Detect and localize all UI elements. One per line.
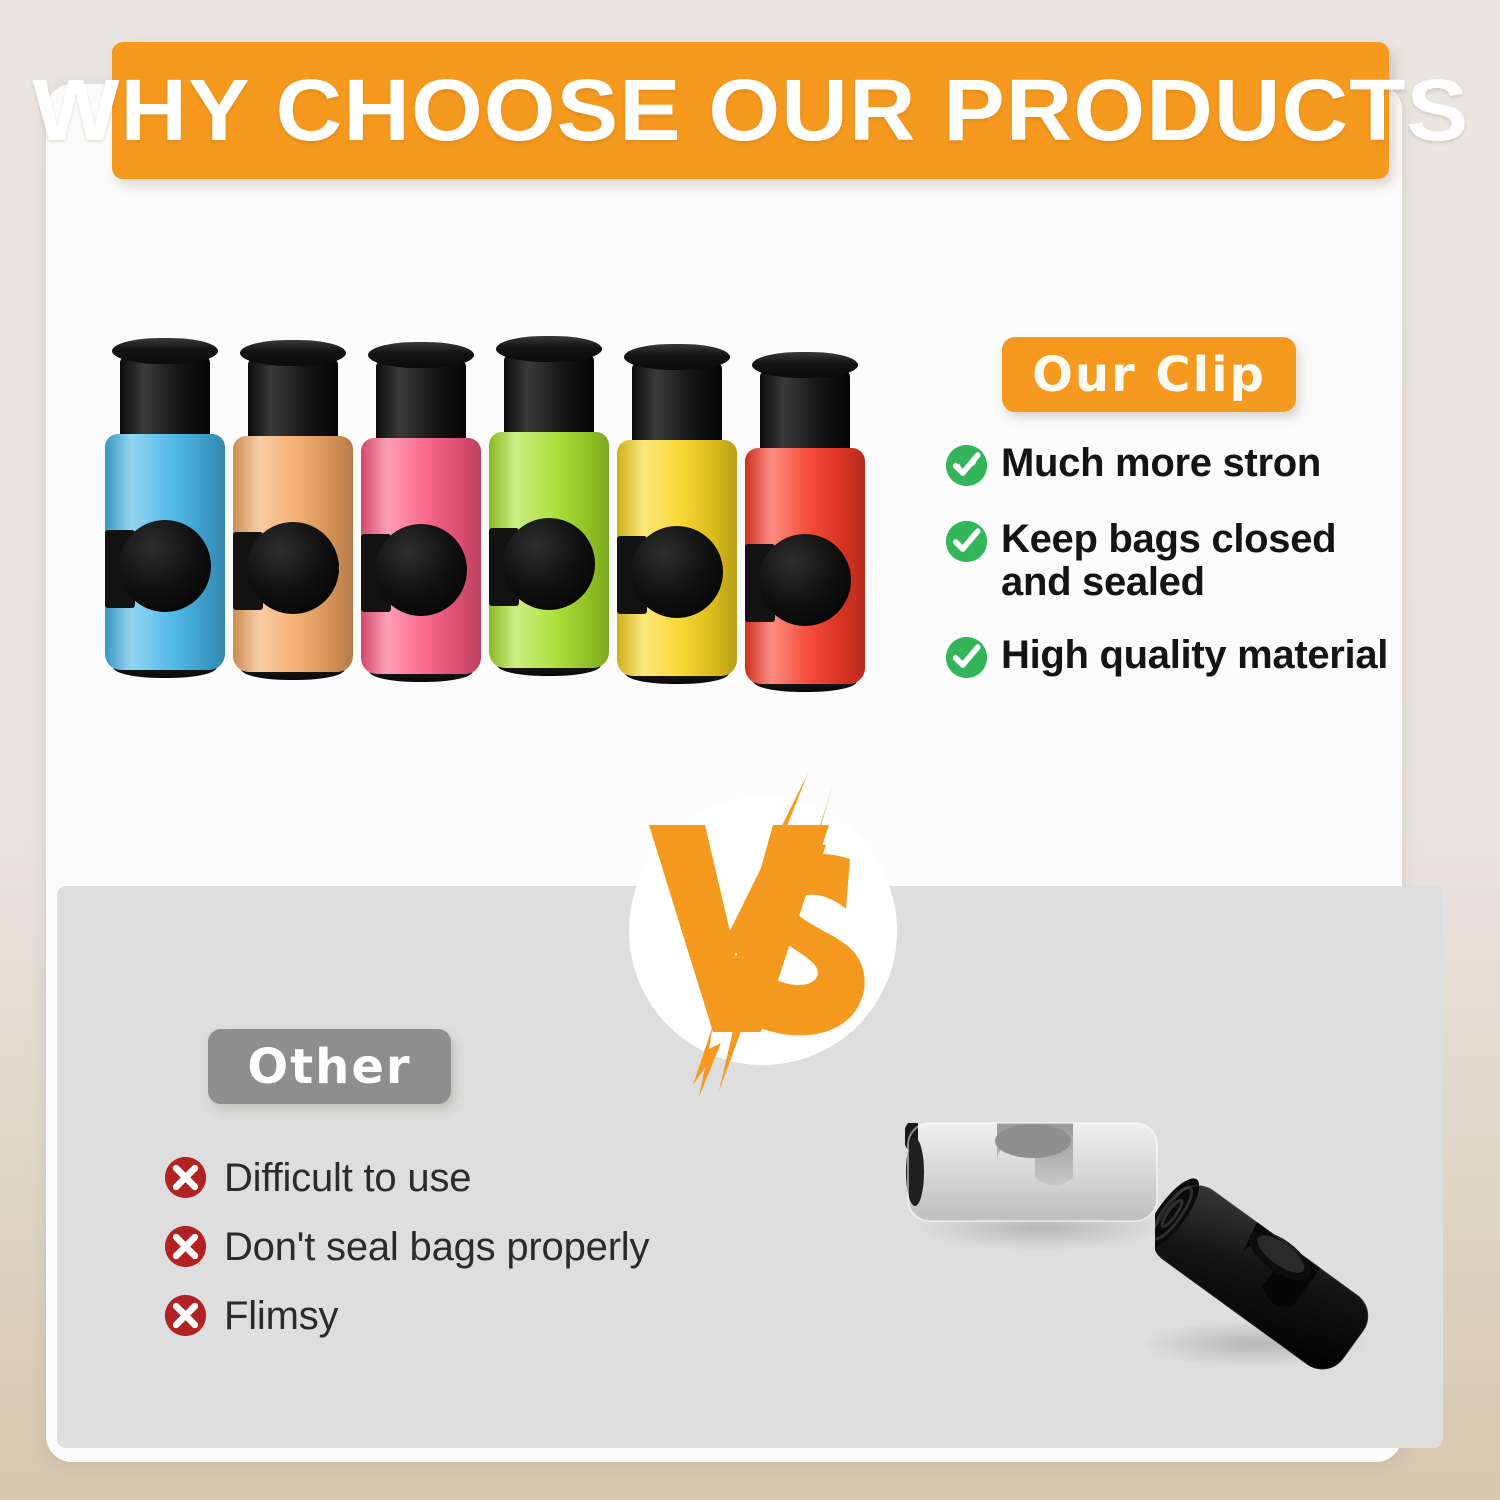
- our-clip-product-row: [100, 330, 880, 700]
- product-clip-orange: [233, 340, 353, 680]
- check-circle-icon: [944, 519, 989, 564]
- other-badge-label: Other: [247, 1043, 411, 1091]
- clip-cord-hole: [247, 522, 339, 614]
- list-item: Much more stron: [944, 440, 1414, 488]
- other-clip-black: [1155, 1175, 1370, 1375]
- clip-cap-lip: [752, 352, 858, 378]
- other-clip-grey: [905, 1115, 1160, 1230]
- product-clip-green: [489, 336, 609, 676]
- clip-cord-hole: [759, 534, 851, 626]
- drawback-label: Don't seal bags properly: [224, 1225, 649, 1269]
- page-title: WHY CHOOSE OUR PRODUCTS: [32, 67, 1469, 154]
- list-item: High quality material: [944, 632, 1414, 680]
- clip-cord-hole: [119, 520, 211, 612]
- clip-cord-hole: [631, 526, 723, 618]
- feature-label: High quality material: [1001, 632, 1388, 677]
- clip-cap-body: [248, 358, 338, 442]
- drawback-label: Difficult to use: [224, 1156, 471, 1200]
- clip-cap-body: [632, 362, 722, 446]
- clip-cap-lip: [496, 336, 602, 362]
- clip-cap-lip: [368, 342, 474, 368]
- clip-cord-hole: [503, 518, 595, 610]
- check-circle-icon: [944, 443, 989, 488]
- product-clip-pink: [361, 342, 481, 682]
- versus-divider: [629, 797, 897, 1065]
- clip-cord-hole: [375, 524, 467, 616]
- our-clip-feature-list: Much more stron Keep bags closed and sea…: [944, 440, 1414, 708]
- clip-cap-lip: [112, 338, 218, 364]
- list-item: Don't seal bags properly: [163, 1224, 783, 1269]
- page-title-banner: WHY CHOOSE OUR PRODUCTS: [112, 42, 1389, 179]
- feature-label: Much more stron: [1001, 440, 1321, 485]
- cross-circle-icon: [163, 1293, 208, 1338]
- check-circle-icon: [944, 635, 989, 680]
- clip-cap-lip: [240, 340, 346, 366]
- clip-cap-body: [504, 354, 594, 438]
- product-clip-red: [745, 352, 865, 692]
- clip-cap-body: [376, 360, 466, 444]
- clip-cap-body: [120, 356, 210, 440]
- list-item: Difficult to use: [163, 1155, 783, 1200]
- other-badge: Other: [208, 1029, 451, 1104]
- our-clip-badge-label: Our Clip: [1032, 351, 1266, 399]
- cross-circle-icon: [163, 1155, 208, 1200]
- other-drawback-list: Difficult to use Don't seal bags properl…: [163, 1155, 783, 1362]
- our-clip-badge: Our Clip: [1002, 337, 1296, 412]
- cross-circle-icon: [163, 1224, 208, 1269]
- list-item: Keep bags closed and sealed: [944, 516, 1414, 604]
- feature-label: Keep bags closed and sealed: [1001, 516, 1336, 604]
- product-clip-blue: [105, 338, 225, 678]
- product-clip-yellow: [617, 344, 737, 684]
- clip-cap-lip: [624, 344, 730, 370]
- list-item: Flimsy: [163, 1293, 783, 1338]
- clip-cap-body: [760, 370, 850, 454]
- vs-lightning-icon: [601, 767, 931, 1097]
- drawback-label: Flimsy: [224, 1294, 338, 1338]
